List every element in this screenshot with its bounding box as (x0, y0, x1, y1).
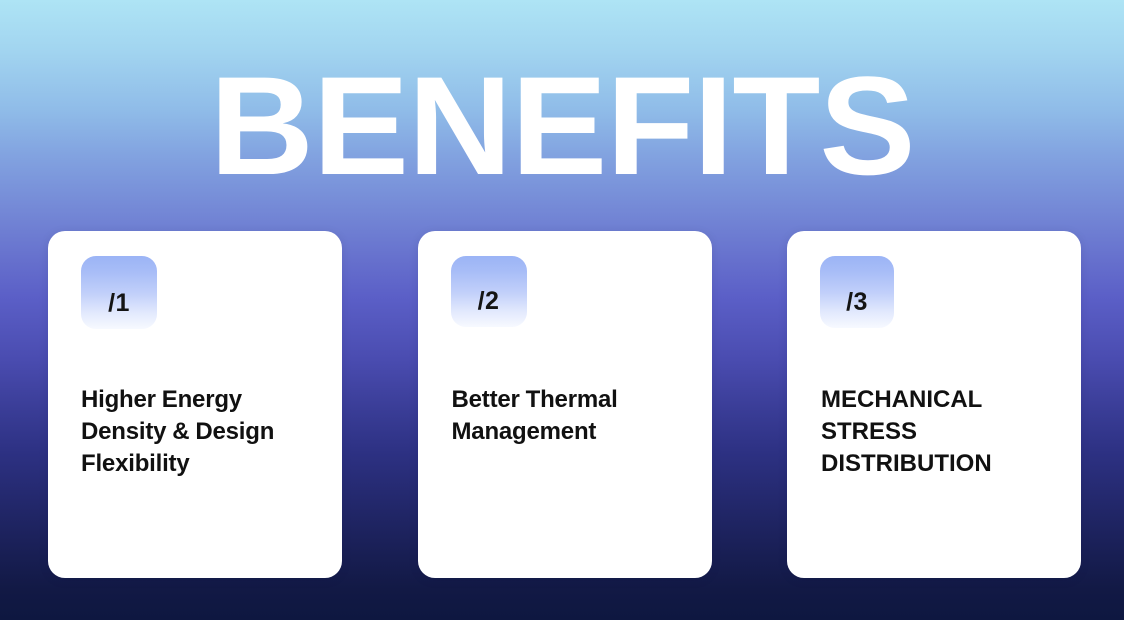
benefit-title-3: MECHANICAL STRESS DISTRIBUTION (821, 384, 1059, 480)
benefits-slide: BENEFITS /1 Higher Energy Density & Desi… (0, 0, 1124, 620)
benefit-title-2: Better Thermal Management (452, 384, 690, 448)
benefit-cards-row: /1 Higher Energy Density & Design Flexib… (48, 231, 1081, 578)
page-title: BENEFITS (210, 56, 915, 196)
benefit-number-label-2: /2 (451, 289, 527, 314)
benefit-number-badge-2: /2 (451, 256, 527, 327)
benefit-card-2[interactable]: /2 Better Thermal Management (418, 231, 712, 578)
benefit-title-1: Higher Energy Density & Design Flexibili… (81, 384, 320, 480)
benefit-number-label-3: /3 (820, 290, 894, 315)
benefit-card-3[interactable]: /3 MECHANICAL STRESS DISTRIBUTION (787, 231, 1081, 578)
benefit-number-badge-1: /1 (81, 256, 157, 329)
page-title-container: BENEFITS (0, 56, 1124, 196)
benefit-card-1[interactable]: /1 Higher Energy Density & Design Flexib… (48, 231, 342, 578)
benefit-number-label-1: /1 (81, 291, 157, 316)
benefit-number-badge-3: /3 (820, 256, 894, 328)
